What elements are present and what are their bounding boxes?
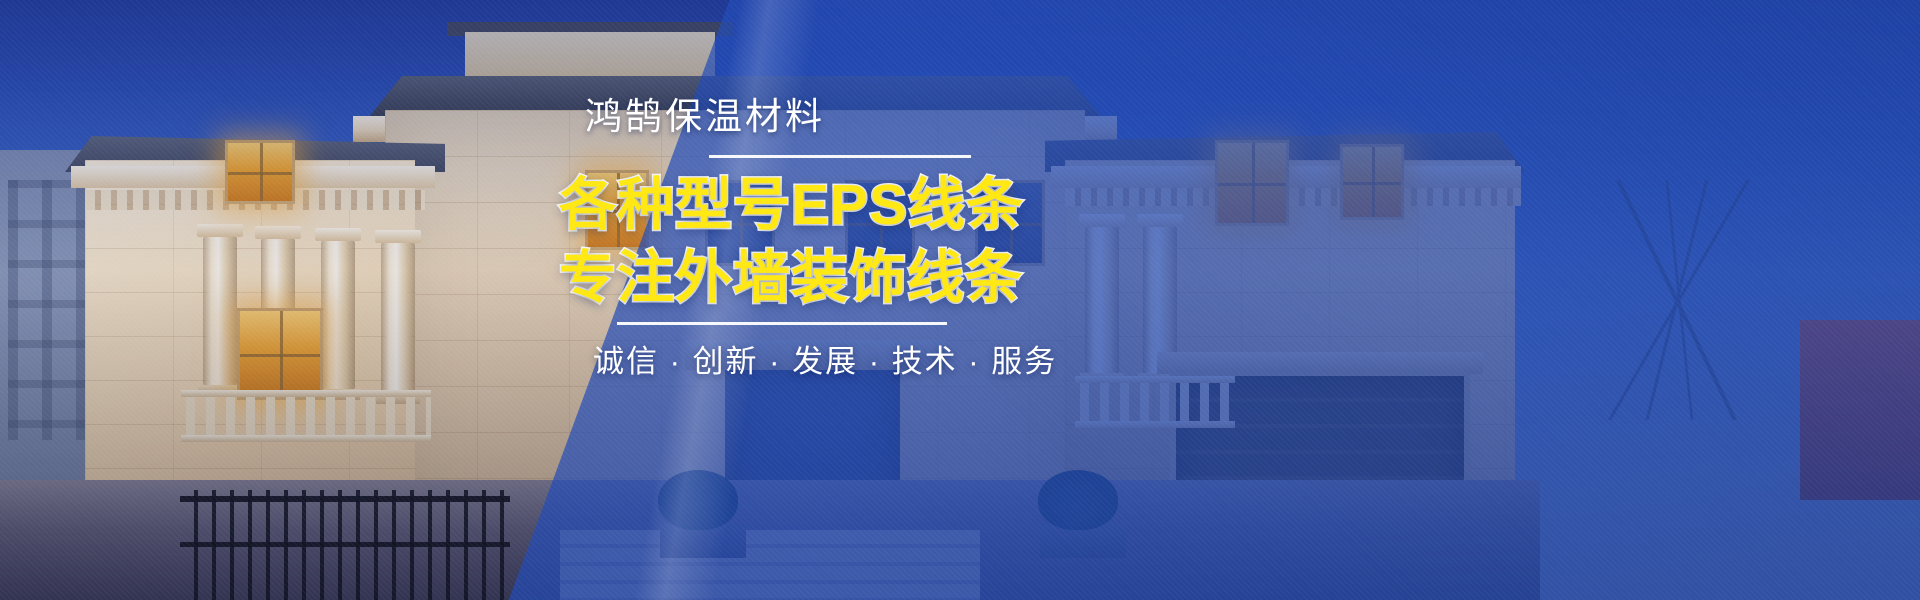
banner-copy: 鸿鹄保温材料 各种型号EPS线条 专注外墙装饰线条 诚信 · 创新 · 发展 ·…	[557, 96, 1027, 380]
headline-line-2: 专注外墙装饰线条	[559, 245, 1027, 312]
divider-rule-top	[709, 155, 971, 158]
headline-line-1: 各种型号EPS线条	[559, 172, 1027, 239]
promo-banner: 鸿鹄保温材料 各种型号EPS线条 专注外墙装饰线条 诚信 · 创新 · 发展 ·…	[0, 0, 1920, 600]
brand-title: 鸿鹄保温材料	[585, 96, 1027, 137]
tagline: 诚信 · 创新 · 发展 · 技术 · 服务	[593, 343, 1027, 380]
divider-rule-bottom	[617, 322, 947, 325]
